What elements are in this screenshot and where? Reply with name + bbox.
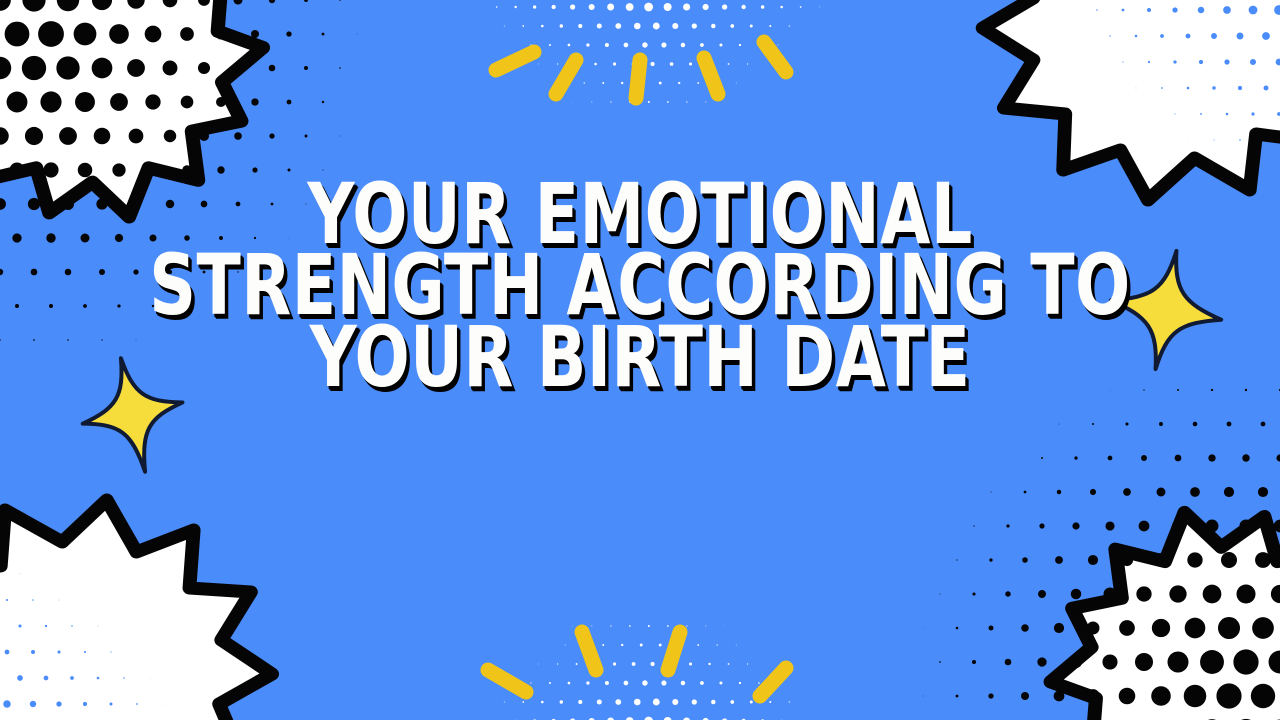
headline-line-3: YOUR BIRTH DATE [90, 319, 1191, 396]
poster-canvas: YOUR EMOTIONAL STRENGTH ACCORDING TO YOU… [0, 0, 1280, 720]
headline-block: YOUR EMOTIONAL STRENGTH ACCORDING TO YOU… [0, 176, 1280, 396]
